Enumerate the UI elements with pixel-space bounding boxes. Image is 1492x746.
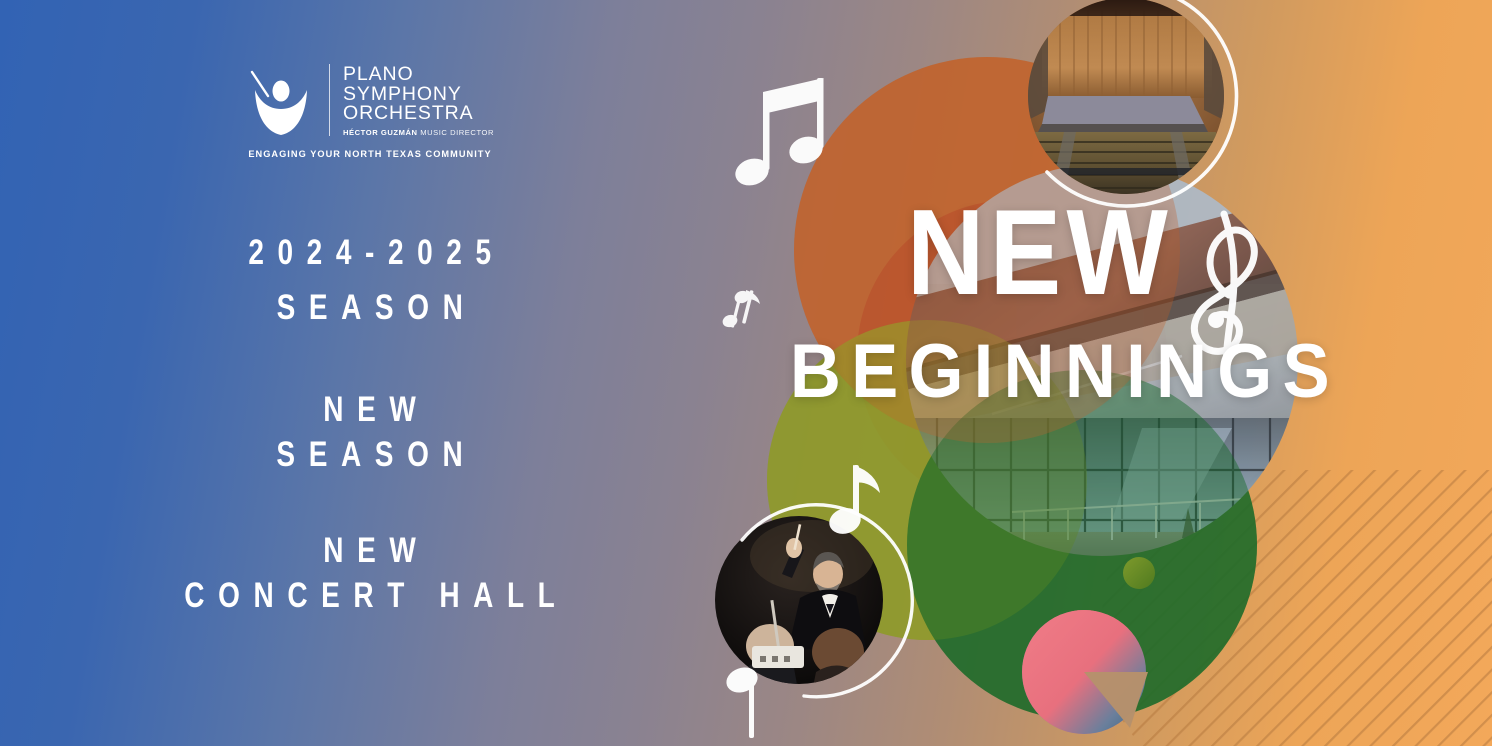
conductor-figure-icon — [246, 62, 316, 140]
music-director-title: MUSIC DIRECTOR — [420, 128, 494, 137]
logo-wordmark: PLANO SYMPHONY ORCHESTRA HÉCTOR GUZMÁN M… — [343, 65, 494, 138]
logo-divider — [329, 64, 330, 136]
promo-spacer — [121, 478, 618, 528]
promo-block: NEW SEASON NEW CONCERT HALL — [121, 387, 618, 619]
promo-2-line-1: NEW — [171, 528, 569, 574]
promo-1-line-1: NEW — [171, 387, 569, 433]
accent-dot-green — [1123, 557, 1155, 589]
season-label: SEASON — [235, 286, 505, 331]
left-content-panel: PLANO SYMPHONY ORCHESTRA HÉCTOR GUZMÁN M… — [0, 0, 740, 746]
season-years: 2024-2025 — [235, 231, 505, 276]
orchestra-logo[interactable]: PLANO SYMPHONY ORCHESTRA HÉCTOR GUZMÁN M… — [220, 62, 520, 159]
logo-word-plano: PLANO — [343, 65, 494, 85]
promo-1-line-2: SEASON — [171, 432, 569, 478]
brand-tagline: ENGAGING YOUR NORTH TEXAS COMMUNITY — [248, 149, 491, 159]
promo-2-line-2: CONCERT HALL — [171, 573, 569, 619]
logo-word-orchestra: ORCHESTRA — [343, 104, 494, 124]
conductor-on-podium-photo — [715, 516, 883, 692]
season-promo-banner: NEW BEGINNINGS PLANO SYMPHONY ORCHESTRA — [0, 0, 1492, 746]
artwork-composition — [712, 0, 1492, 746]
season-block: 2024-2025 SEASON — [201, 231, 538, 331]
music-director-name: HÉCTOR GUZMÁN — [343, 128, 418, 137]
music-director-credit: HÉCTOR GUZMÁN MUSIC DIRECTOR — [343, 128, 494, 137]
